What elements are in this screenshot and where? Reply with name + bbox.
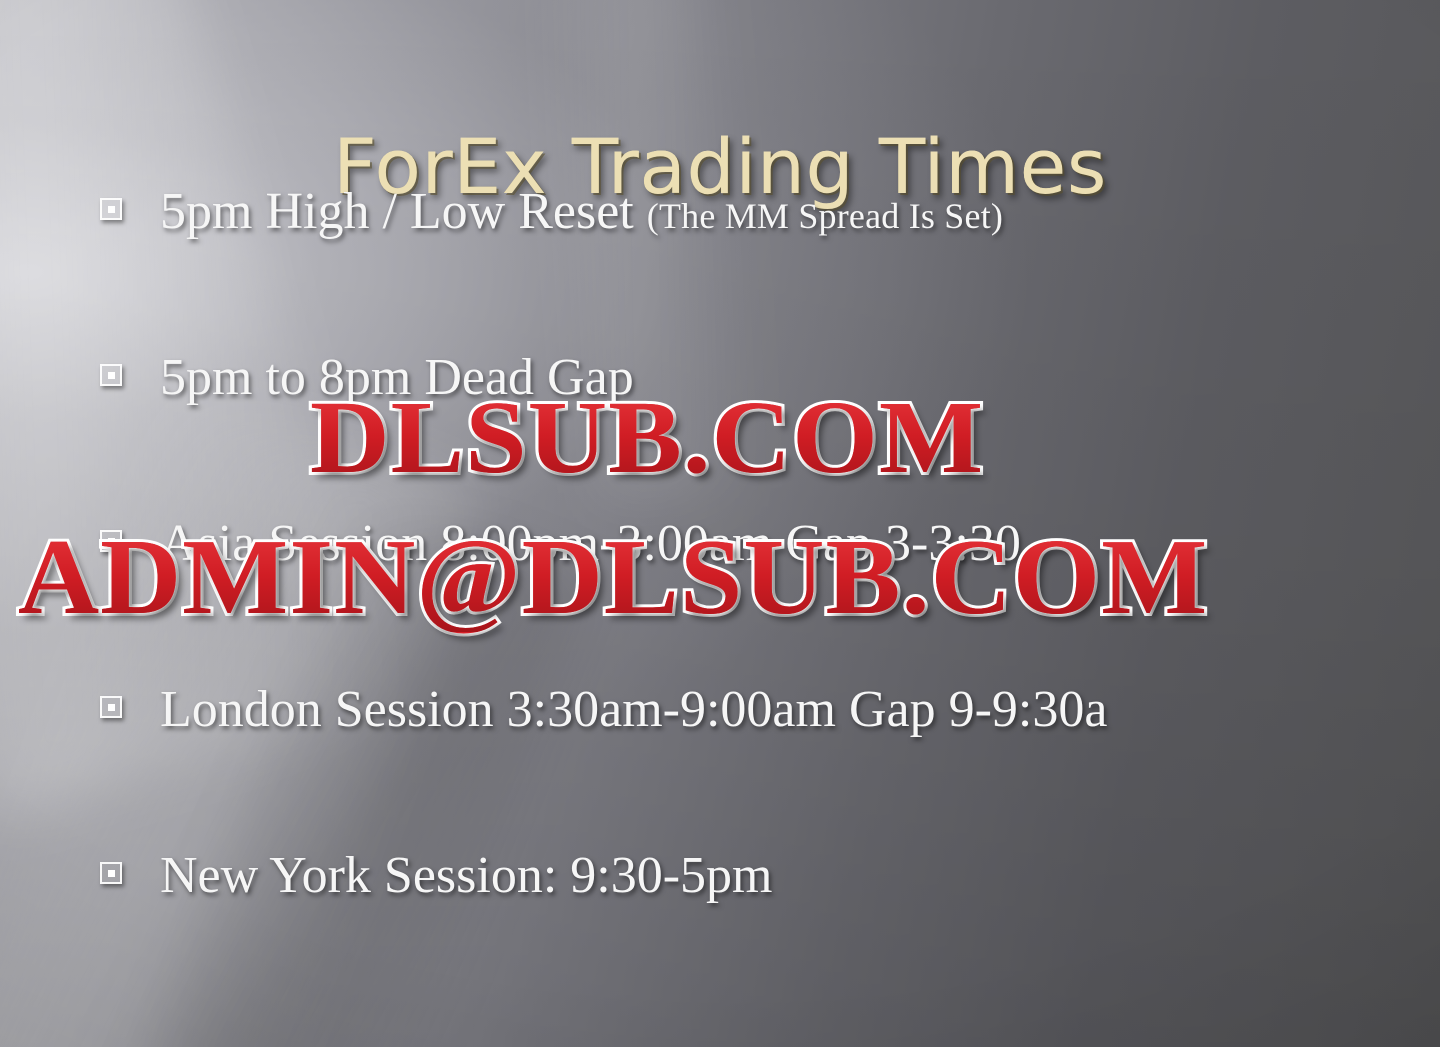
square-dot-bullet-icon (100, 696, 122, 718)
square-dot-bullet-icon (100, 862, 122, 884)
list-item: 5pm High / Low Reset (The MM Spread Is S… (100, 186, 1400, 352)
list-item: New York Session: 9:30-5pm (100, 850, 1400, 1016)
list-item: London Session 3:30am-9:00am Gap 9-9:30a (100, 684, 1400, 850)
list-item-text: London Session 3:30am-9:00am Gap 9-9:30a (160, 684, 1107, 736)
watermark-email-fill: ADMIN@DLSUB.COM (18, 524, 1208, 632)
square-dot-bullet-icon (100, 364, 122, 386)
square-dot-bullet-icon (100, 198, 122, 220)
list-item-text: New York Session: 9:30-5pm (160, 850, 773, 902)
list-item-note: (The MM Spread Is Set) (647, 196, 1003, 236)
list-item-text: 5pm High / Low Reset (The MM Spread Is S… (160, 186, 1003, 238)
watermark-site-fill: DLSUB.COM (310, 386, 984, 490)
presentation-slide: ForEx Trading Times 5pm High / Low Reset… (0, 0, 1440, 1047)
